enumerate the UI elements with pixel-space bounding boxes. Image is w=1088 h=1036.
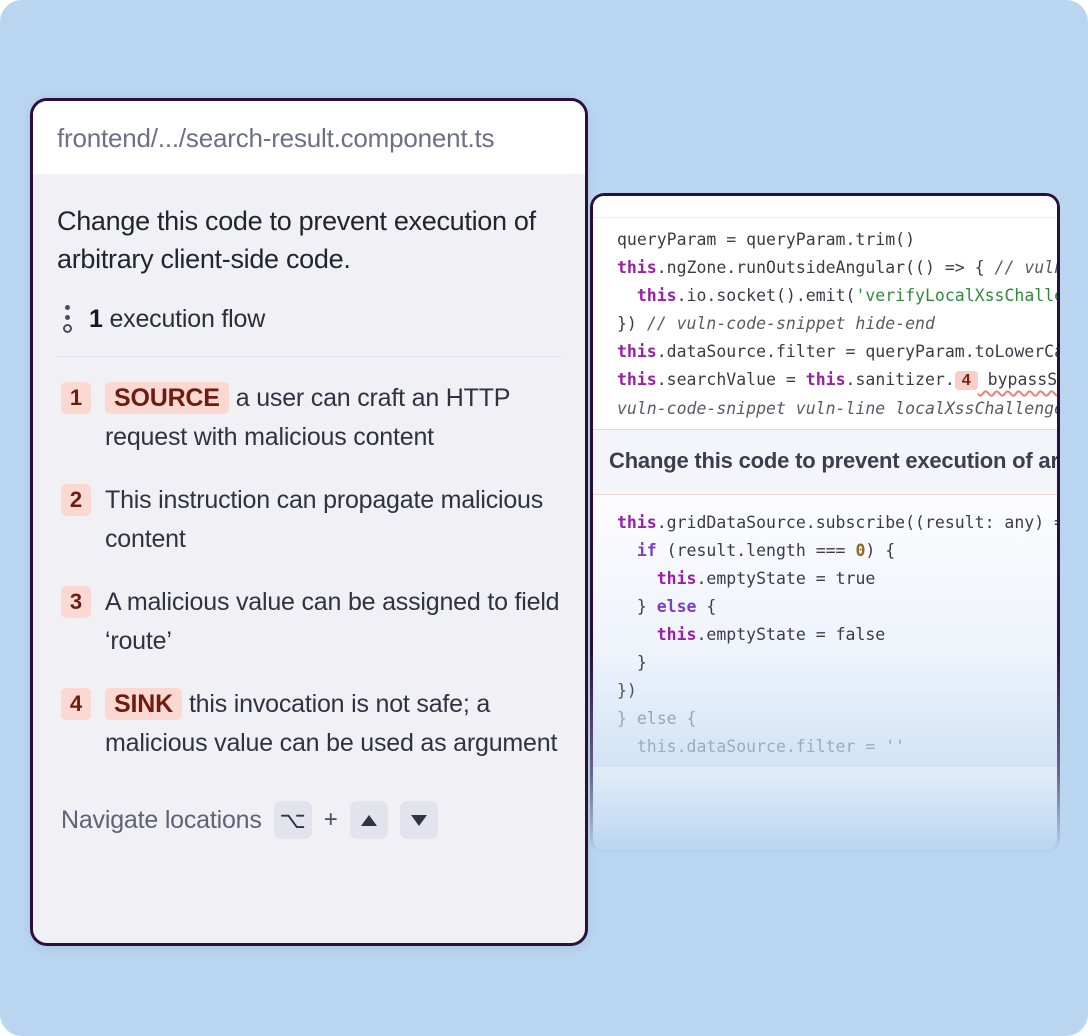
- step-text: SINKthis invocation is not safe; a malic…: [105, 685, 561, 763]
- inline-step-badge[interactable]: 4: [955, 371, 978, 390]
- option-key-icon[interactable]: ⌥: [274, 801, 312, 839]
- code-line: this.gridDataSource.subscribe((result: a…: [617, 513, 1060, 532]
- navigate-locations-label: Navigate locations: [61, 806, 262, 835]
- code-line: }): [617, 681, 637, 700]
- execution-flow-icon: [63, 302, 75, 336]
- code-line: }) // vuln-code-snippet hide-end: [617, 314, 935, 333]
- file-path-label: frontend/.../search-result.component.ts: [57, 123, 561, 154]
- step-kind-tag: SINK: [105, 688, 182, 720]
- step-number-badge: 3: [61, 586, 91, 618]
- issue-title: Change this code to prevent execution of…: [57, 202, 561, 278]
- code-line: this.emptyState = false: [617, 625, 885, 644]
- step-number-badge: 1: [61, 382, 91, 414]
- screenshot-stage: queryParam = queryParam.trim() this.ngZo…: [0, 0, 1088, 1036]
- code-line: this.dataSource.filter = queryParam.toLo…: [617, 342, 1060, 361]
- code-block-top[interactable]: queryParam = queryParam.trim() this.ngZo…: [593, 218, 1057, 429]
- execution-flow-label: 1 execution flow: [89, 305, 265, 334]
- issue-panel-header: frontend/.../search-result.component.ts: [33, 101, 585, 174]
- flow-step-2[interactable]: 2 This instruction can propagate malicio…: [57, 481, 561, 559]
- code-panel-header-strip: [593, 196, 1057, 218]
- code-line: this.emptyState = true: [617, 569, 875, 588]
- step-text: A malicious value can be assigned to fie…: [105, 583, 561, 661]
- arrow-down-key-icon[interactable]: [400, 801, 438, 839]
- code-line: } else {: [617, 709, 696, 728]
- flow-step-3[interactable]: 3 A malicious value can be assigned to f…: [57, 583, 561, 661]
- code-line: this.searchValue = this.sanitizer.4 bypa…: [617, 370, 1060, 389]
- execution-flow-suffix: execution flow: [103, 305, 265, 333]
- code-line: }: [617, 653, 647, 672]
- execution-flow-header[interactable]: 1 execution flow: [57, 302, 561, 336]
- code-block-bottom[interactable]: this.gridDataSource.subscribe((result: a…: [593, 495, 1057, 767]
- flow-divider: [57, 356, 561, 357]
- code-line: vuln-code-snippet vuln-line localXssChal…: [617, 399, 1060, 418]
- step-number-badge: 2: [61, 484, 91, 516]
- code-editor-panel[interactable]: queryParam = queryParam.trim() this.ngZo…: [590, 193, 1060, 853]
- arrow-up-key-icon[interactable]: [350, 801, 388, 839]
- execution-flow-count: 1: [89, 305, 103, 333]
- code-line: } else {: [617, 597, 716, 616]
- step-number-badge: 4: [61, 688, 91, 720]
- step-text: This instruction can propagate malicious…: [105, 481, 561, 559]
- issue-panel-body: Change this code to prevent execution of…: [33, 174, 585, 839]
- navigate-locations-footer: Navigate locations ⌥ +: [57, 787, 561, 839]
- code-line: this.dataSource.filter = '': [617, 737, 905, 756]
- step-text: SOURCEa user can craft an HTTP request w…: [105, 379, 561, 457]
- code-line: if (result.length === 0) {: [617, 541, 895, 560]
- step-kind-tag: SOURCE: [105, 382, 229, 414]
- plus-sign: +: [324, 806, 338, 834]
- code-line: this.io.socket().emit('verifyLocalXssCha…: [617, 286, 1060, 305]
- code-line: this.ngZone.runOutsideAngular(() => { //…: [617, 258, 1060, 277]
- step-description: This instruction can propagate malicious…: [105, 486, 543, 553]
- flow-step-1[interactable]: 1 SOURCEa user can craft an HTTP request…: [57, 379, 561, 457]
- step-description: A malicious value can be assigned to fie…: [105, 588, 559, 655]
- code-line: queryParam = queryParam.trim(): [617, 230, 915, 249]
- flow-step-4[interactable]: 4 SINKthis invocation is not safe; a mal…: [57, 685, 561, 763]
- issue-tooltip-panel[interactable]: frontend/.../search-result.component.ts …: [30, 98, 588, 946]
- code-panel-inline-message: Change this code to prevent execution of…: [593, 429, 1057, 495]
